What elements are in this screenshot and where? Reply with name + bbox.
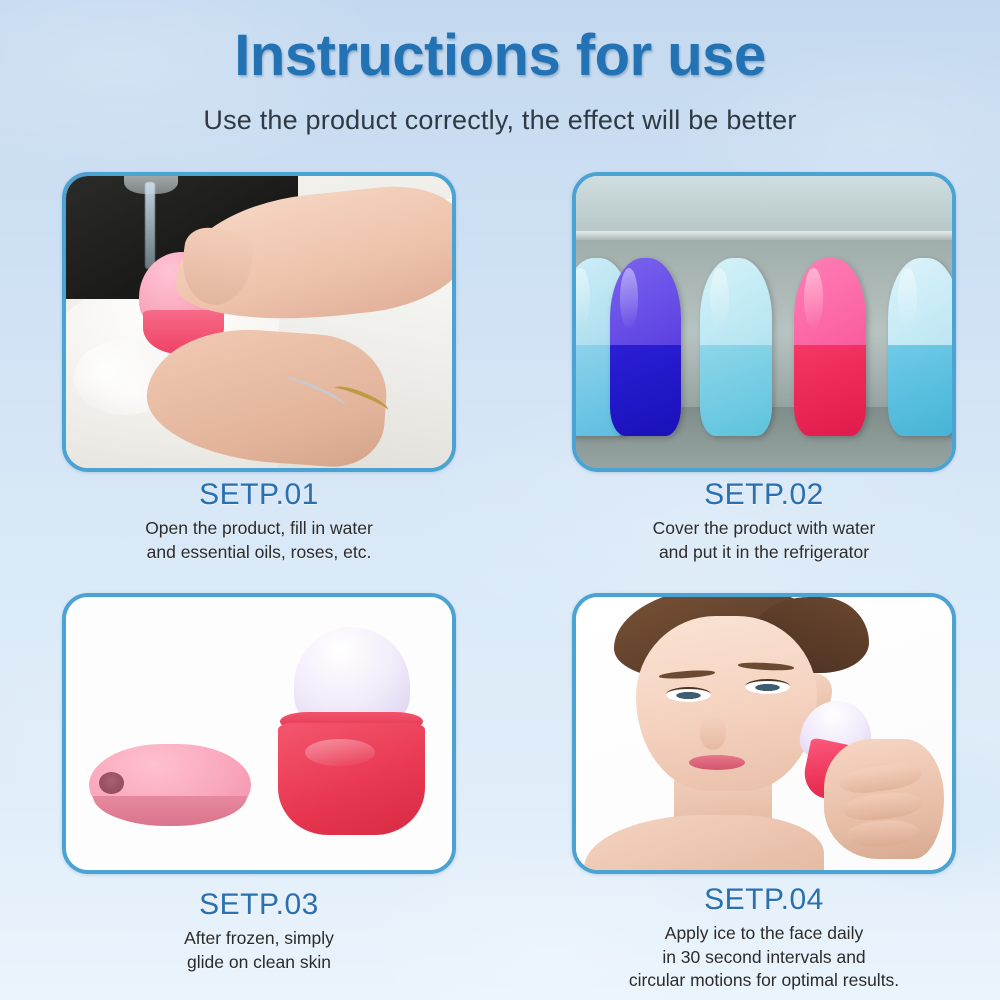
step-1-frame [62, 172, 456, 472]
step-4-frame [572, 593, 956, 874]
step-2-label: SETP.02 [572, 478, 956, 512]
step-4-image-panel [572, 593, 956, 874]
step-1-caption: SETP.01 Open the product, fill in water … [62, 478, 456, 564]
step-2-text-line-1: Cover the product with water [572, 517, 956, 541]
step-4-text-line-2: in 30 second intervals and [572, 946, 956, 970]
step-1-text-line-1: Open the product, fill in water [62, 517, 456, 541]
step-3-image-panel [62, 593, 456, 874]
step-1-image-panel [62, 172, 456, 472]
step-4-caption: SETP.04 Apply ice to the face daily in 3… [572, 883, 956, 993]
step-3-frame [62, 593, 456, 874]
step-4-text-line-3: circular motions for optimal results. [572, 969, 956, 993]
page-header: Instructions for use Use the product cor… [0, 0, 1000, 136]
step-3-caption: SETP.03 After frozen, simply glide on cl… [62, 888, 456, 974]
step-4-photo [576, 597, 952, 870]
step-1-photo [66, 176, 452, 468]
step-2-frame [572, 172, 956, 472]
step-2-caption: SETP.02 Cover the product with water and… [572, 478, 956, 564]
step-3-text-line-1: After frozen, simply [62, 927, 456, 951]
page-title: Instructions for use [0, 22, 1000, 89]
step-1-label: SETP.01 [62, 478, 456, 512]
step-4-text-line-1: Apply ice to the face daily [572, 922, 956, 946]
step-2-image-panel [572, 172, 956, 472]
step-1-text-line-2: and essential oils, roses, etc. [62, 541, 456, 565]
step-3-text-line-2: glide on clean skin [62, 951, 456, 975]
step-4-label: SETP.04 [572, 883, 956, 917]
step-3-photo [66, 597, 452, 870]
step-2-text-line-2: and put it in the refrigerator [572, 541, 956, 565]
page-subtitle: Use the product correctly, the effect wi… [0, 105, 1000, 136]
step-3-label: SETP.03 [62, 888, 456, 922]
step-2-photo [576, 176, 952, 468]
